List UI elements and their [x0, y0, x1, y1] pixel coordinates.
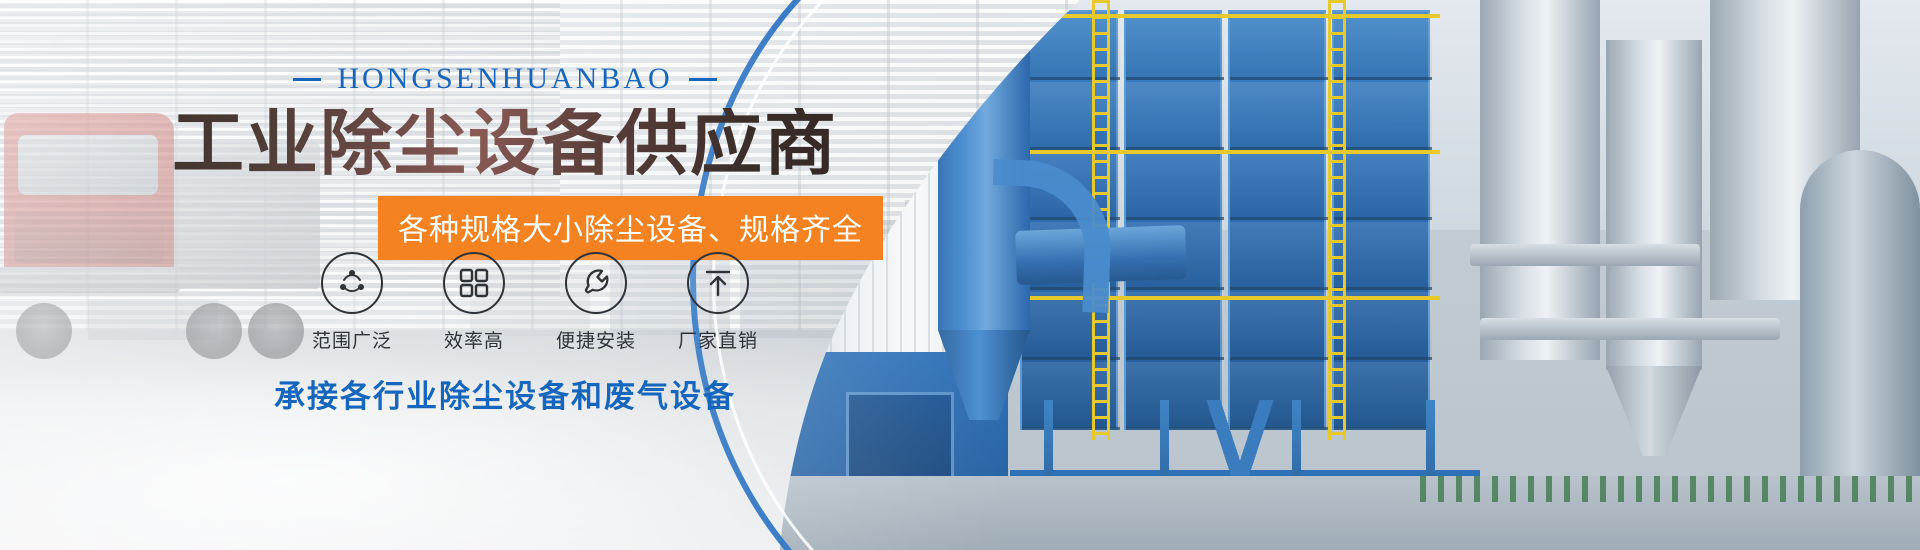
feature-label: 厂家直销: [678, 326, 758, 353]
feature-item-efficiency[interactable]: 效率高: [422, 252, 526, 353]
feature-label: 便捷安装: [556, 326, 636, 353]
wrench-icon: [565, 252, 627, 314]
baghouse-column: [1332, 10, 1430, 430]
horizontal-pipe: [1470, 244, 1700, 266]
feature-label: 范围广泛: [312, 326, 392, 353]
baghouse-column: [1124, 10, 1222, 430]
silver-hopper: [1606, 366, 1702, 456]
silver-tower: [1480, 0, 1600, 360]
eyebrow-text: HONGSENHUANBAO: [337, 62, 672, 96]
dash-right-icon: [689, 78, 717, 81]
feature-item-installation[interactable]: 便捷安装: [544, 252, 648, 353]
highlight-bar: 各种规格大小除尘设备、规格齐全: [378, 196, 883, 260]
baghouse-column: [1228, 10, 1326, 430]
tagline: 承接各行业除尘设备和废气设备: [0, 371, 1010, 416]
grid-four-squares-icon: [443, 252, 505, 314]
yellow-rail: [1020, 14, 1440, 18]
arrow-up-bar-icon: [687, 252, 749, 314]
horizontal-pipe: [1480, 318, 1780, 340]
hero-banner: HONGSENHUANBAO 工业除尘设备供应商 各种规格大小除尘设备、规格齐全: [0, 0, 1920, 550]
green-fence: [1420, 476, 1920, 502]
feature-item-direct-sales[interactable]: 厂家直销: [666, 252, 770, 353]
yellow-rail: [1020, 150, 1440, 154]
network-nodes-icon: [321, 252, 383, 314]
page-title: 工业除尘设备供应商: [0, 108, 1010, 180]
feature-label: 效率高: [444, 326, 504, 353]
eyebrow: HONGSENHUANBAO: [0, 62, 1010, 96]
yellow-ladder: [1328, 0, 1346, 440]
banner-content: HONGSENHUANBAO 工业除尘设备供应商 各种规格大小除尘设备、规格齐全: [0, 0, 1010, 550]
dash-left-icon: [293, 78, 321, 81]
feature-item-range[interactable]: 范围广泛: [300, 252, 404, 353]
feature-list: 范围广泛 效率高: [300, 252, 770, 353]
